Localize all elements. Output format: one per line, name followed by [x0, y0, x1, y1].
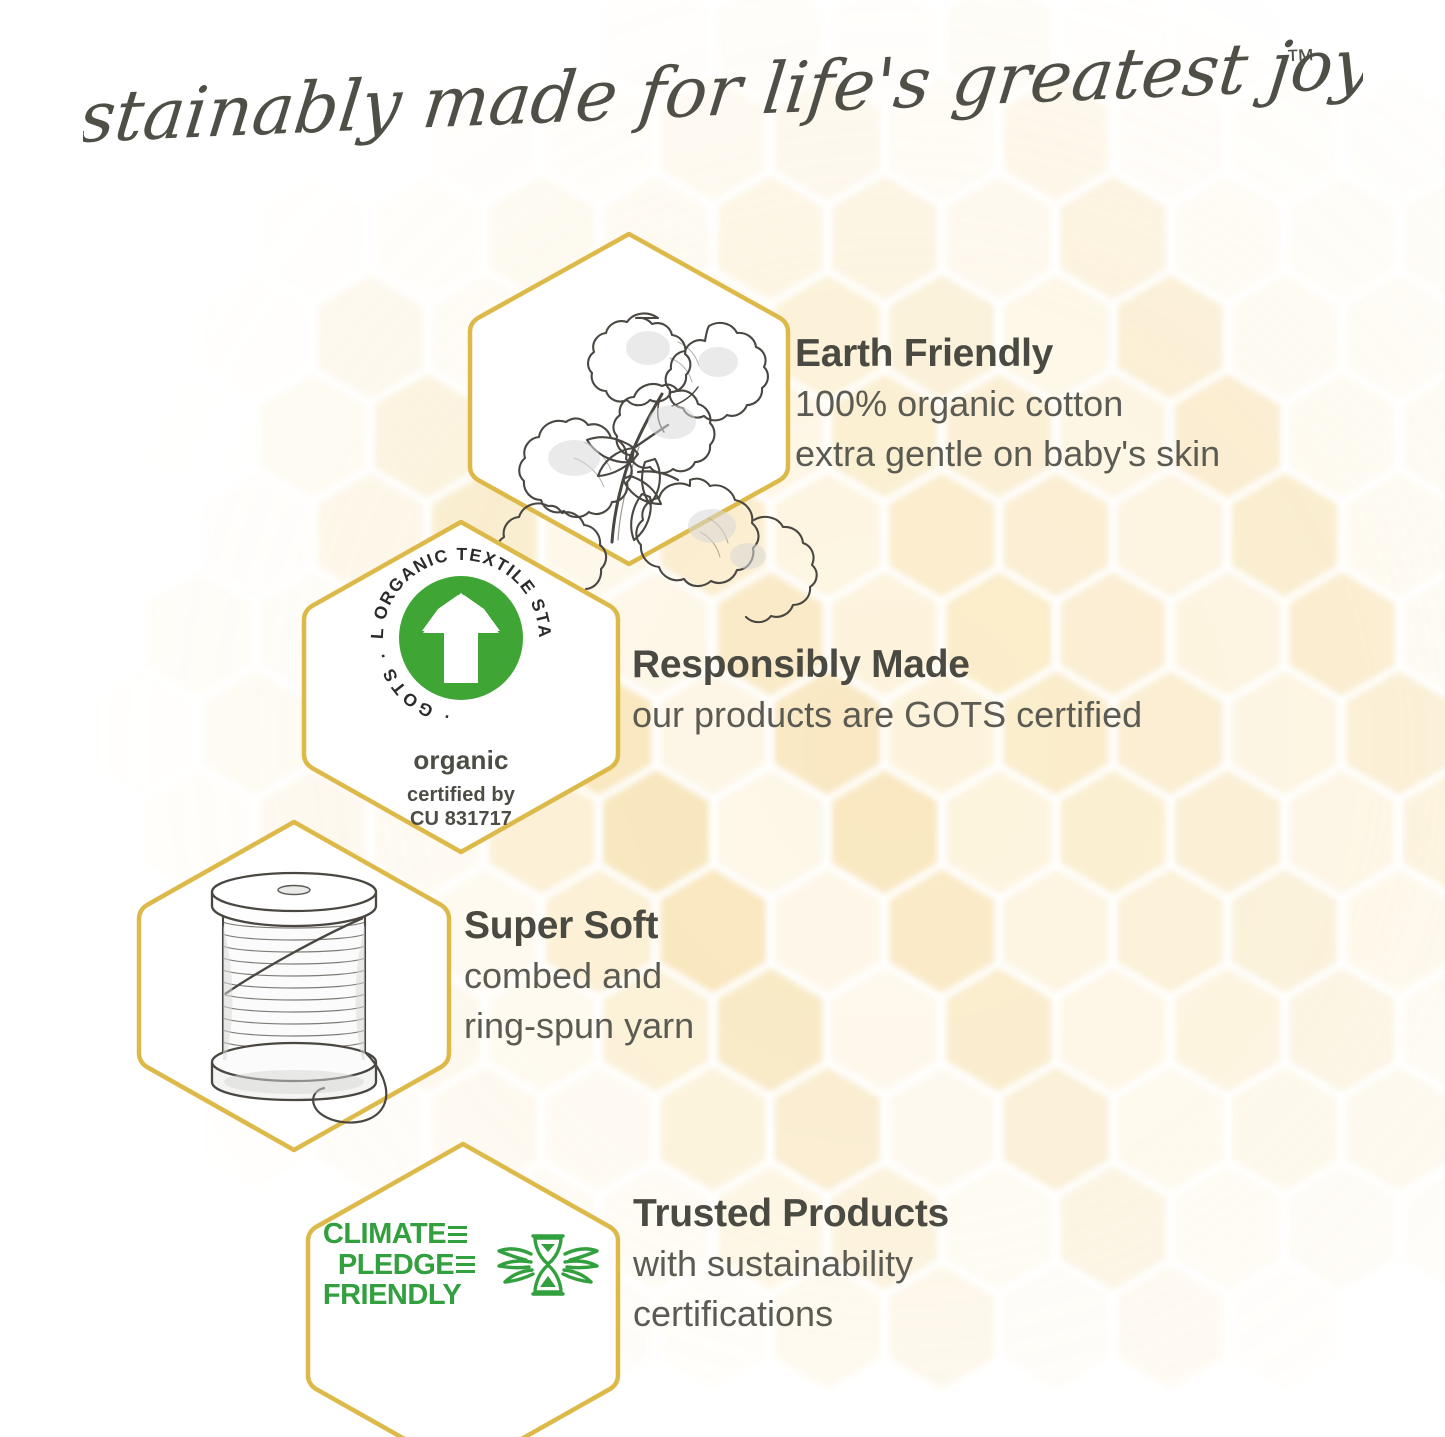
- infographic-canvas: sustainably made for life's greatest joy…: [0, 0, 1445, 1437]
- feature-card-responsibly-made: GLOBAL ORGANIC TEXTILE STANDARD · GOTS ·…: [296, 514, 626, 860]
- feature-line-2-earth-friendly: extra gentle on baby's skin: [795, 432, 1220, 476]
- honeycomb-cell: [1289, 770, 1394, 894]
- honeycomb-cell: [1289, 374, 1394, 498]
- honeycomb-cell: [1118, 473, 1223, 597]
- honeycomb-cell: [1232, 671, 1337, 795]
- feature-card-super-soft: [131, 814, 457, 1158]
- honeycomb-cell: [1346, 275, 1445, 399]
- honeycomb-cell: [1061, 1166, 1166, 1290]
- honeycomb-cell: [318, 275, 423, 399]
- cpf-bars-1: [448, 1224, 467, 1245]
- feature-text-responsibly-made: Responsibly Made our products are GOTS c…: [632, 644, 1142, 737]
- feature-heading-responsibly-made: Responsibly Made: [632, 644, 1142, 685]
- honeycomb-cell: [1289, 572, 1394, 696]
- honeycomb-cell: [1346, 869, 1445, 993]
- honeycomb-cell: [260, 374, 365, 498]
- feature-line-1-responsibly-made: our products are GOTS certified: [632, 693, 1142, 737]
- trademark-symbol: ™: [1284, 43, 1315, 77]
- honeycomb-cell: [1003, 1067, 1108, 1191]
- honeycomb-cell: [1175, 770, 1280, 894]
- honeycomb-cell: [1232, 1067, 1337, 1191]
- gots-label-organic: organic: [413, 745, 508, 776]
- winged-hourglass-icon: [493, 1224, 603, 1306]
- honeycomb-cell: [203, 671, 308, 795]
- honeycomb-cell: [1232, 1265, 1337, 1389]
- honeycomb-cell: [889, 869, 994, 993]
- honeycomb-cell: [718, 770, 823, 894]
- feature-line-1-super-soft: combed and: [464, 954, 694, 998]
- feature-line-2-super-soft: ring-spun yarn: [464, 1004, 694, 1048]
- honeycomb-cell: [1175, 176, 1280, 300]
- honeycomb-cell: [1003, 1265, 1108, 1389]
- honeycomb-cell: [775, 869, 880, 993]
- feature-line-2-trusted-products: certifications: [633, 1292, 949, 1336]
- honeycomb-cell: [718, 968, 823, 1092]
- honeycomb-cell: [1061, 968, 1166, 1092]
- honeycomb-cell: [946, 770, 1051, 894]
- feature-heading-super-soft: Super Soft: [464, 905, 694, 946]
- gots-certified-by: certified by: [407, 784, 515, 808]
- cpf-word-climate: CLIMATE: [323, 1220, 446, 1249]
- honeycomb-cell: [946, 176, 1051, 300]
- honeycomb-cell: [1289, 968, 1394, 1092]
- honeycomb-cell: [661, 1067, 766, 1191]
- climate-pledge-wordmark: CLIMATE PLEDGE: [323, 1220, 475, 1310]
- feature-text-super-soft: Super Soft combed and ring-spun yarn: [464, 905, 694, 1048]
- honeycomb-cell: [146, 374, 251, 498]
- honeycomb-cell: [775, 1067, 880, 1191]
- honeycomb-cell: [203, 275, 308, 399]
- feature-heading-earth-friendly: Earth Friendly: [795, 333, 1220, 374]
- honeycomb-cell: [946, 968, 1051, 1092]
- honeycomb-cell: [1346, 1067, 1445, 1191]
- honeycomb-cell: [1175, 572, 1280, 696]
- cpf-bars-2: [456, 1254, 475, 1275]
- gots-seal-graphic: GLOBAL ORGANIC TEXTILE STANDARD · GOTS ·: [360, 537, 562, 739]
- honeycomb-cell: [889, 1067, 994, 1191]
- honeycomb-cell: [1003, 473, 1108, 597]
- feature-text-earth-friendly: Earth Friendly 100% organic cotton extra…: [795, 333, 1220, 476]
- gots-certification-icon: GLOBAL ORGANIC TEXTILE STANDARD · GOTS ·…: [360, 537, 562, 831]
- honeycomb-cell: [832, 968, 937, 1092]
- thread-spool-sketch-icon: [212, 873, 386, 1123]
- honeycomb-cell: [832, 770, 937, 894]
- cpf-word-pledge: PLEDGE: [338, 1251, 454, 1280]
- honeycomb-cell: [1232, 869, 1337, 993]
- honeycomb-cell: [260, 176, 365, 300]
- honeycomb-cell: [1118, 1067, 1223, 1191]
- honeycomb-cell: [203, 473, 308, 597]
- honeycomb-cell: [1232, 275, 1337, 399]
- honeycomb-cell: [1232, 473, 1337, 597]
- climate-pledge-friendly-icon: CLIMATE PLEDGE: [323, 1220, 603, 1310]
- honeycomb-cell: [1061, 770, 1166, 894]
- tagline: sustainably made for life's greatest joy…: [0, 38, 1445, 148]
- honeycomb-cell: [1118, 869, 1223, 993]
- honeycomb-cell: [832, 176, 937, 300]
- feature-text-trusted-products: Trusted Products with sustainability cer…: [633, 1193, 949, 1336]
- feature-heading-trusted-products: Trusted Products: [633, 1193, 949, 1234]
- honeycomb-cell: [1003, 869, 1108, 993]
- honeycomb-cell: [1346, 473, 1445, 597]
- honeycomb-cell: [1346, 671, 1445, 795]
- honeycomb-cell: [146, 572, 251, 696]
- honeycomb-cell: [1175, 1166, 1280, 1290]
- honeycomb-cell: [1061, 176, 1166, 300]
- cpf-word-friendly: FRIENDLY: [323, 1281, 461, 1310]
- honeycomb-cell: [89, 671, 194, 795]
- tagline-script-text: sustainably made for life's greatest joy: [83, 38, 1363, 148]
- honeycomb-cell: [889, 473, 994, 597]
- honeycomb-cell: [1175, 968, 1280, 1092]
- honeycomb-cell: [1289, 1166, 1394, 1290]
- feature-card-trusted-products: CLIMATE PLEDGE: [300, 1136, 626, 1436]
- honeycomb-cell: [1289, 176, 1394, 300]
- feature-line-1-earth-friendly: 100% organic cotton: [795, 382, 1220, 426]
- feature-line-1-trusted-products: with sustainability: [633, 1242, 949, 1286]
- honeycomb-cell: [946, 1166, 1051, 1290]
- honeycomb-cell: [1118, 1265, 1223, 1389]
